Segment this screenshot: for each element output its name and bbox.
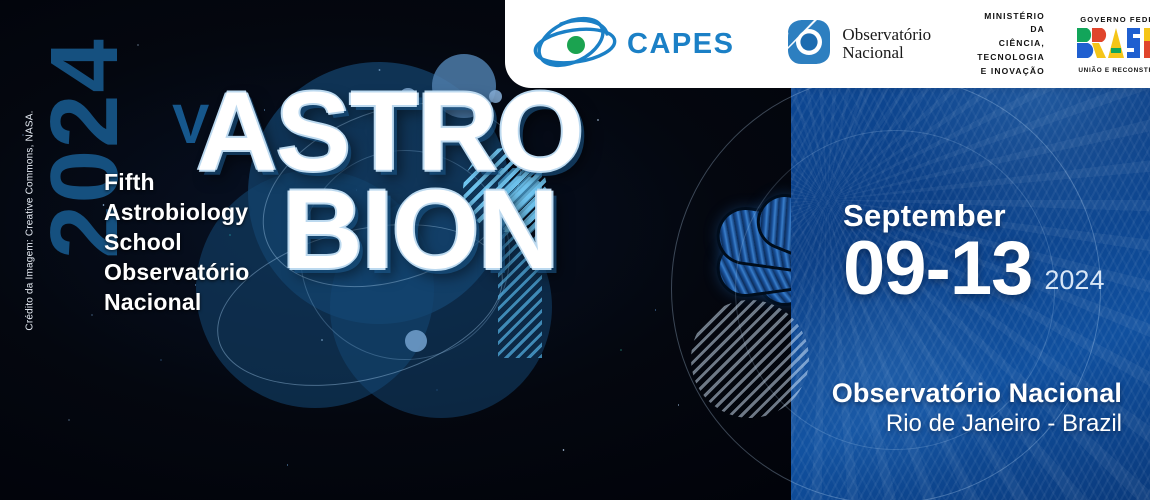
image-credit: Crédito da Imagem: Creative Commons, NAS… xyxy=(25,81,36,361)
decorative-dot-bottom xyxy=(405,330,427,352)
event-year: 2024 xyxy=(1044,265,1104,308)
observatorio-nacional-icon xyxy=(784,17,834,72)
event-banner: CAPES Observatório Nacional xyxy=(0,0,1150,500)
event-venue: Observatório Nacional Rio de Janeiro - B… xyxy=(832,378,1122,438)
event-days-row: 09-13 2024 xyxy=(843,230,1104,308)
on-line-1: Observatório xyxy=(842,26,931,44)
ministry-line-3: E INOVAÇÃO xyxy=(977,65,1045,79)
venue-location: Rio de Janeiro - Brazil xyxy=(832,410,1122,438)
ministry-line-2: CIÊNCIA, TECNOLOGIA xyxy=(977,37,1045,65)
event-wordmark: ASTRO BION xyxy=(196,84,583,279)
governo-federal-tagline: UNIÃO E RECONSTRUÇÃO xyxy=(1075,67,1150,74)
ministry-line-1: MINISTÉRIO DA xyxy=(977,10,1045,38)
sponsor-logo-card: CAPES Observatório Nacional xyxy=(505,0,1150,88)
governo-federal-label: GOVERNO FEDERAL xyxy=(1075,15,1150,24)
panel-hatch-circle xyxy=(691,300,809,418)
brasil-wordmark-icon xyxy=(1075,47,1150,64)
event-date: September 09-13 2024 xyxy=(843,198,1104,308)
capes-wordmark: CAPES xyxy=(627,28,734,61)
venue-name: Observatório Nacional xyxy=(832,378,1122,409)
observatorio-nacional-text: Observatório Nacional xyxy=(842,26,931,63)
capes-logo: CAPES xyxy=(531,14,734,75)
subtitle-line: Nacional xyxy=(104,288,250,318)
observatorio-nacional-logo: Observatório Nacional xyxy=(784,17,931,72)
capes-swirl-icon xyxy=(531,14,623,75)
event-days: 09-13 xyxy=(843,230,1032,308)
governo-federal-logo: GOVERNO FEDERAL xyxy=(1075,15,1150,74)
wordmark-line-bion: BION xyxy=(282,182,583,278)
on-line-2: Nacional xyxy=(842,44,931,62)
wordmark-line-astro: ASTRO xyxy=(196,84,583,180)
ministry-logo: MINISTÉRIO DA CIÊNCIA, TECNOLOGIA E INOV… xyxy=(977,10,1045,79)
